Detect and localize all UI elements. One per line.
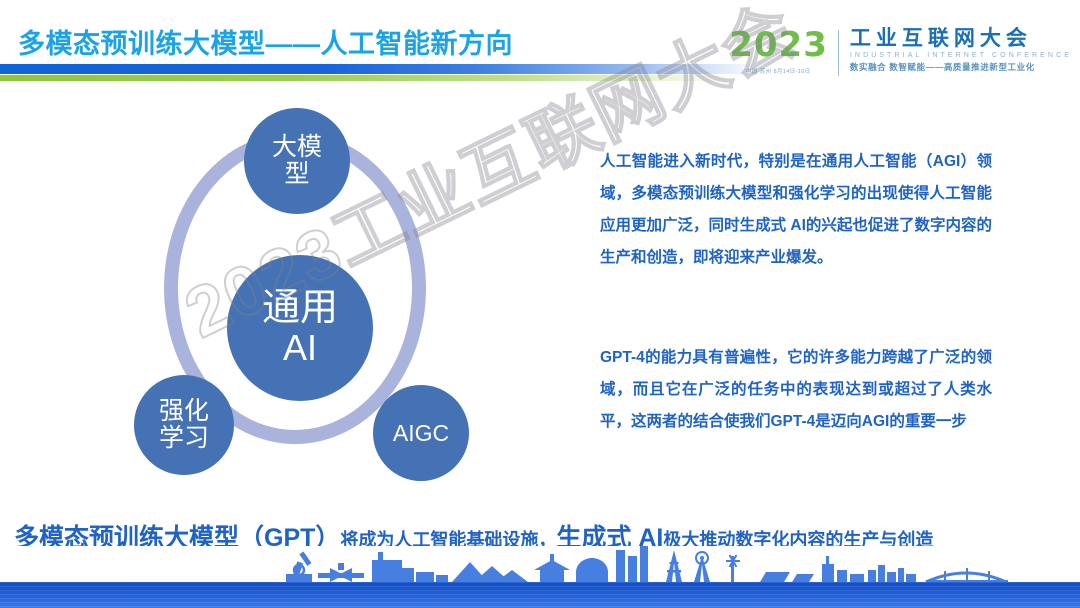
logo-name-en: INDUSTRIAL INTERNET CONFERENCE bbox=[850, 52, 1072, 59]
wind-turbine-icon bbox=[726, 554, 740, 582]
bridge-icon bbox=[926, 568, 1008, 583]
diagram-node-general-ai-line1: 通用 bbox=[262, 288, 338, 329]
solar-panel-icon bbox=[760, 572, 814, 582]
pipeline-icon bbox=[318, 563, 364, 582]
logo-name-block: 工业互联网大会 INDUSTRIAL INTERNET CONFERENCE 数… bbox=[839, 28, 1072, 73]
concept-diagram: 大模型 通用 AI 强化 学习 AIGC bbox=[128, 100, 468, 500]
band-water bbox=[0, 582, 1080, 608]
radar-tower-icon bbox=[694, 552, 710, 582]
tower-icon bbox=[616, 546, 648, 582]
page-title: 多模态预训练大模型——人工智能新方向 bbox=[18, 22, 513, 61]
eiffel-tower-icon bbox=[666, 550, 682, 582]
diagram-node-big-model: 大模型 bbox=[244, 108, 350, 214]
diagram-node-aigc: AIGC bbox=[373, 385, 469, 481]
conference-logo: 2023 中国·苏州 8月14日-16日 工业互联网大会 INDUSTRIAL … bbox=[729, 28, 1072, 76]
diagram-node-rl-line1: 强化 bbox=[159, 398, 209, 425]
logo-year: 2023 bbox=[729, 28, 828, 62]
logo-year-block: 2023 中国·苏州 8月14日-16日 bbox=[729, 28, 838, 75]
bottom-band bbox=[0, 546, 1080, 608]
pavilion-icon bbox=[534, 554, 570, 582]
body-paragraph-2: GPT-4的能力具有普遍性，它的许多能力跨越了广泛的领域，而且它在广泛的任务中的… bbox=[600, 342, 992, 438]
robot-arm-icon bbox=[286, 552, 312, 582]
slide-root: 多模态预训练大模型——人工智能新方向 2023 中国·苏州 8月14日-16日 … bbox=[0, 0, 1080, 608]
factory-icon bbox=[372, 552, 448, 582]
diagram-node-general-ai: 通用 AI bbox=[227, 255, 373, 401]
skyline-illustration bbox=[0, 546, 1080, 584]
diagram-node-reinforcement-learning: 强化 学习 bbox=[134, 375, 234, 475]
logo-date-line: 中国·苏州 8月14日-16日 bbox=[746, 66, 811, 74]
dome-icon bbox=[576, 558, 608, 582]
diagram-node-aigc-label: AIGC bbox=[393, 421, 449, 446]
body-paragraph-1: 人工智能进入新时代，特别是在通用人工智能（AGI）领域，多模态预训练大模型和强化… bbox=[600, 146, 992, 274]
logo-name-cn: 工业互联网大会 bbox=[850, 28, 1072, 50]
header-rule-green bbox=[0, 75, 740, 81]
city-block-icon bbox=[868, 565, 916, 582]
refinery-icon bbox=[822, 556, 864, 582]
logo-slogan: 数实融合 数智赋能——高质量推进新型工业化 bbox=[850, 61, 1072, 73]
header-rule-blue bbox=[0, 64, 760, 74]
diagram-node-general-ai-line2: AI bbox=[283, 329, 317, 368]
diagram-node-rl-line2: 学习 bbox=[159, 425, 209, 452]
diagram-node-big-model-label: 大模型 bbox=[266, 134, 328, 188]
mountain-icon bbox=[452, 562, 528, 582]
